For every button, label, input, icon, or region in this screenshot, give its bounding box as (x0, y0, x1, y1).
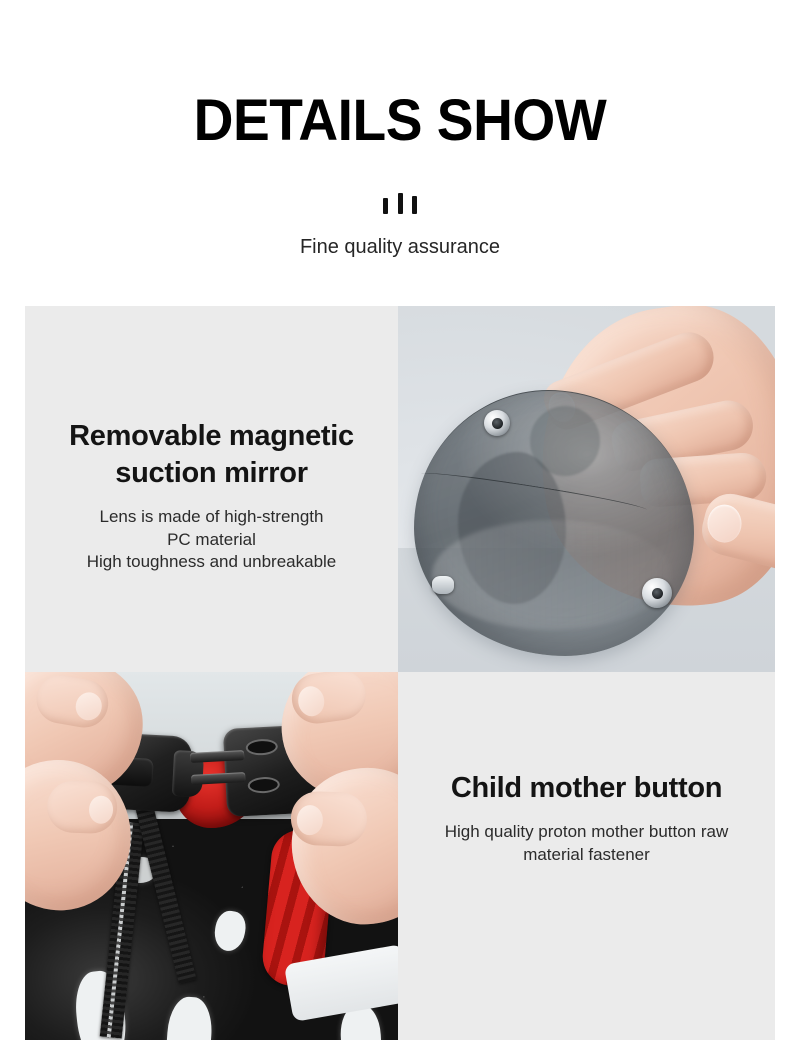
details-show-page: DETAILS SHOW Fine quality assurance Remo… (0, 0, 800, 1040)
feature-title: Removable magnetic suction mirror (41, 418, 382, 492)
buckle-slot (245, 738, 278, 756)
finger (289, 672, 369, 727)
page-subtitle: Fine quality assurance (0, 236, 800, 259)
finger (46, 780, 118, 834)
divider-bar-3 (412, 196, 417, 214)
finger (290, 791, 368, 848)
three-bars-icon (383, 192, 417, 214)
product-photo-buckle (25, 672, 398, 1040)
feature-title: Child mother button (414, 770, 759, 807)
feature-desc-line: High quality proton mother button raw (414, 821, 759, 843)
visor-reflection (530, 406, 600, 476)
product-photo-visor (398, 306, 775, 672)
buckle-prong (191, 772, 245, 785)
fingernail (74, 690, 104, 722)
feature-description: Lens is made of high-strength PC materia… (41, 506, 382, 573)
page-header: DETAILS SHOW Fine quality assurance (0, 0, 800, 259)
visor-sheen (432, 520, 672, 630)
feature-text-block: Removable magnetic suction mirror Lens i… (25, 418, 398, 574)
feature-desc-line: PC material (41, 529, 382, 551)
feature-desc-line: High toughness and unbreakable (41, 551, 382, 573)
page-title: DETAILS SHOW (20, 92, 780, 150)
fingernail (296, 685, 326, 718)
feature-text-block: Child mother button High quality proton … (398, 770, 775, 866)
feature-description: High quality proton mother button raw ma… (414, 821, 759, 866)
feature-panel-removable-magnetic-suction-mirror: Removable magnetic suction mirror Lens i… (25, 306, 398, 672)
feature-grid: Removable magnetic suction mirror Lens i… (25, 306, 775, 1040)
visor-snap-button (642, 578, 672, 608)
divider-bar-2 (398, 193, 403, 214)
fingernail (89, 795, 114, 824)
buckle-prong (190, 750, 244, 763)
buckle-slot (247, 776, 280, 794)
thumbnail (707, 505, 741, 543)
feature-panel-child-mother-button: Child mother button High quality proton … (398, 672, 775, 1040)
visor-snap-clip (432, 576, 454, 594)
feature-desc-line: material fastener (414, 844, 759, 866)
fingernail (296, 805, 323, 836)
finger (33, 672, 112, 731)
magnetic-visor-lens (414, 390, 694, 656)
feature-desc-line: Lens is made of high-strength (41, 506, 382, 528)
divider-bar-1 (383, 198, 388, 214)
visor-snap-button (484, 410, 510, 436)
